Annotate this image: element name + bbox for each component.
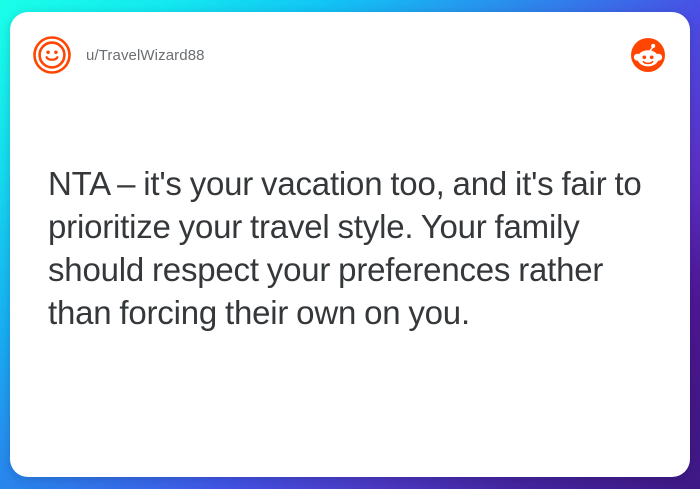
card-body: NTA – it's your vacation too, and it's f…	[48, 162, 650, 334]
reddit-snoo-logo-icon	[630, 37, 666, 73]
screenshot-root: u/TravelWizard88	[0, 0, 700, 489]
reddit-comment-card: u/TravelWizard88	[10, 12, 690, 477]
comment-text: NTA – it's your vacation too, and it's f…	[48, 162, 650, 334]
card-header: u/TravelWizard88	[10, 12, 690, 98]
username-label: u/TravelWizard88	[86, 47, 205, 64]
smiley-face-avatar-icon	[32, 35, 72, 75]
